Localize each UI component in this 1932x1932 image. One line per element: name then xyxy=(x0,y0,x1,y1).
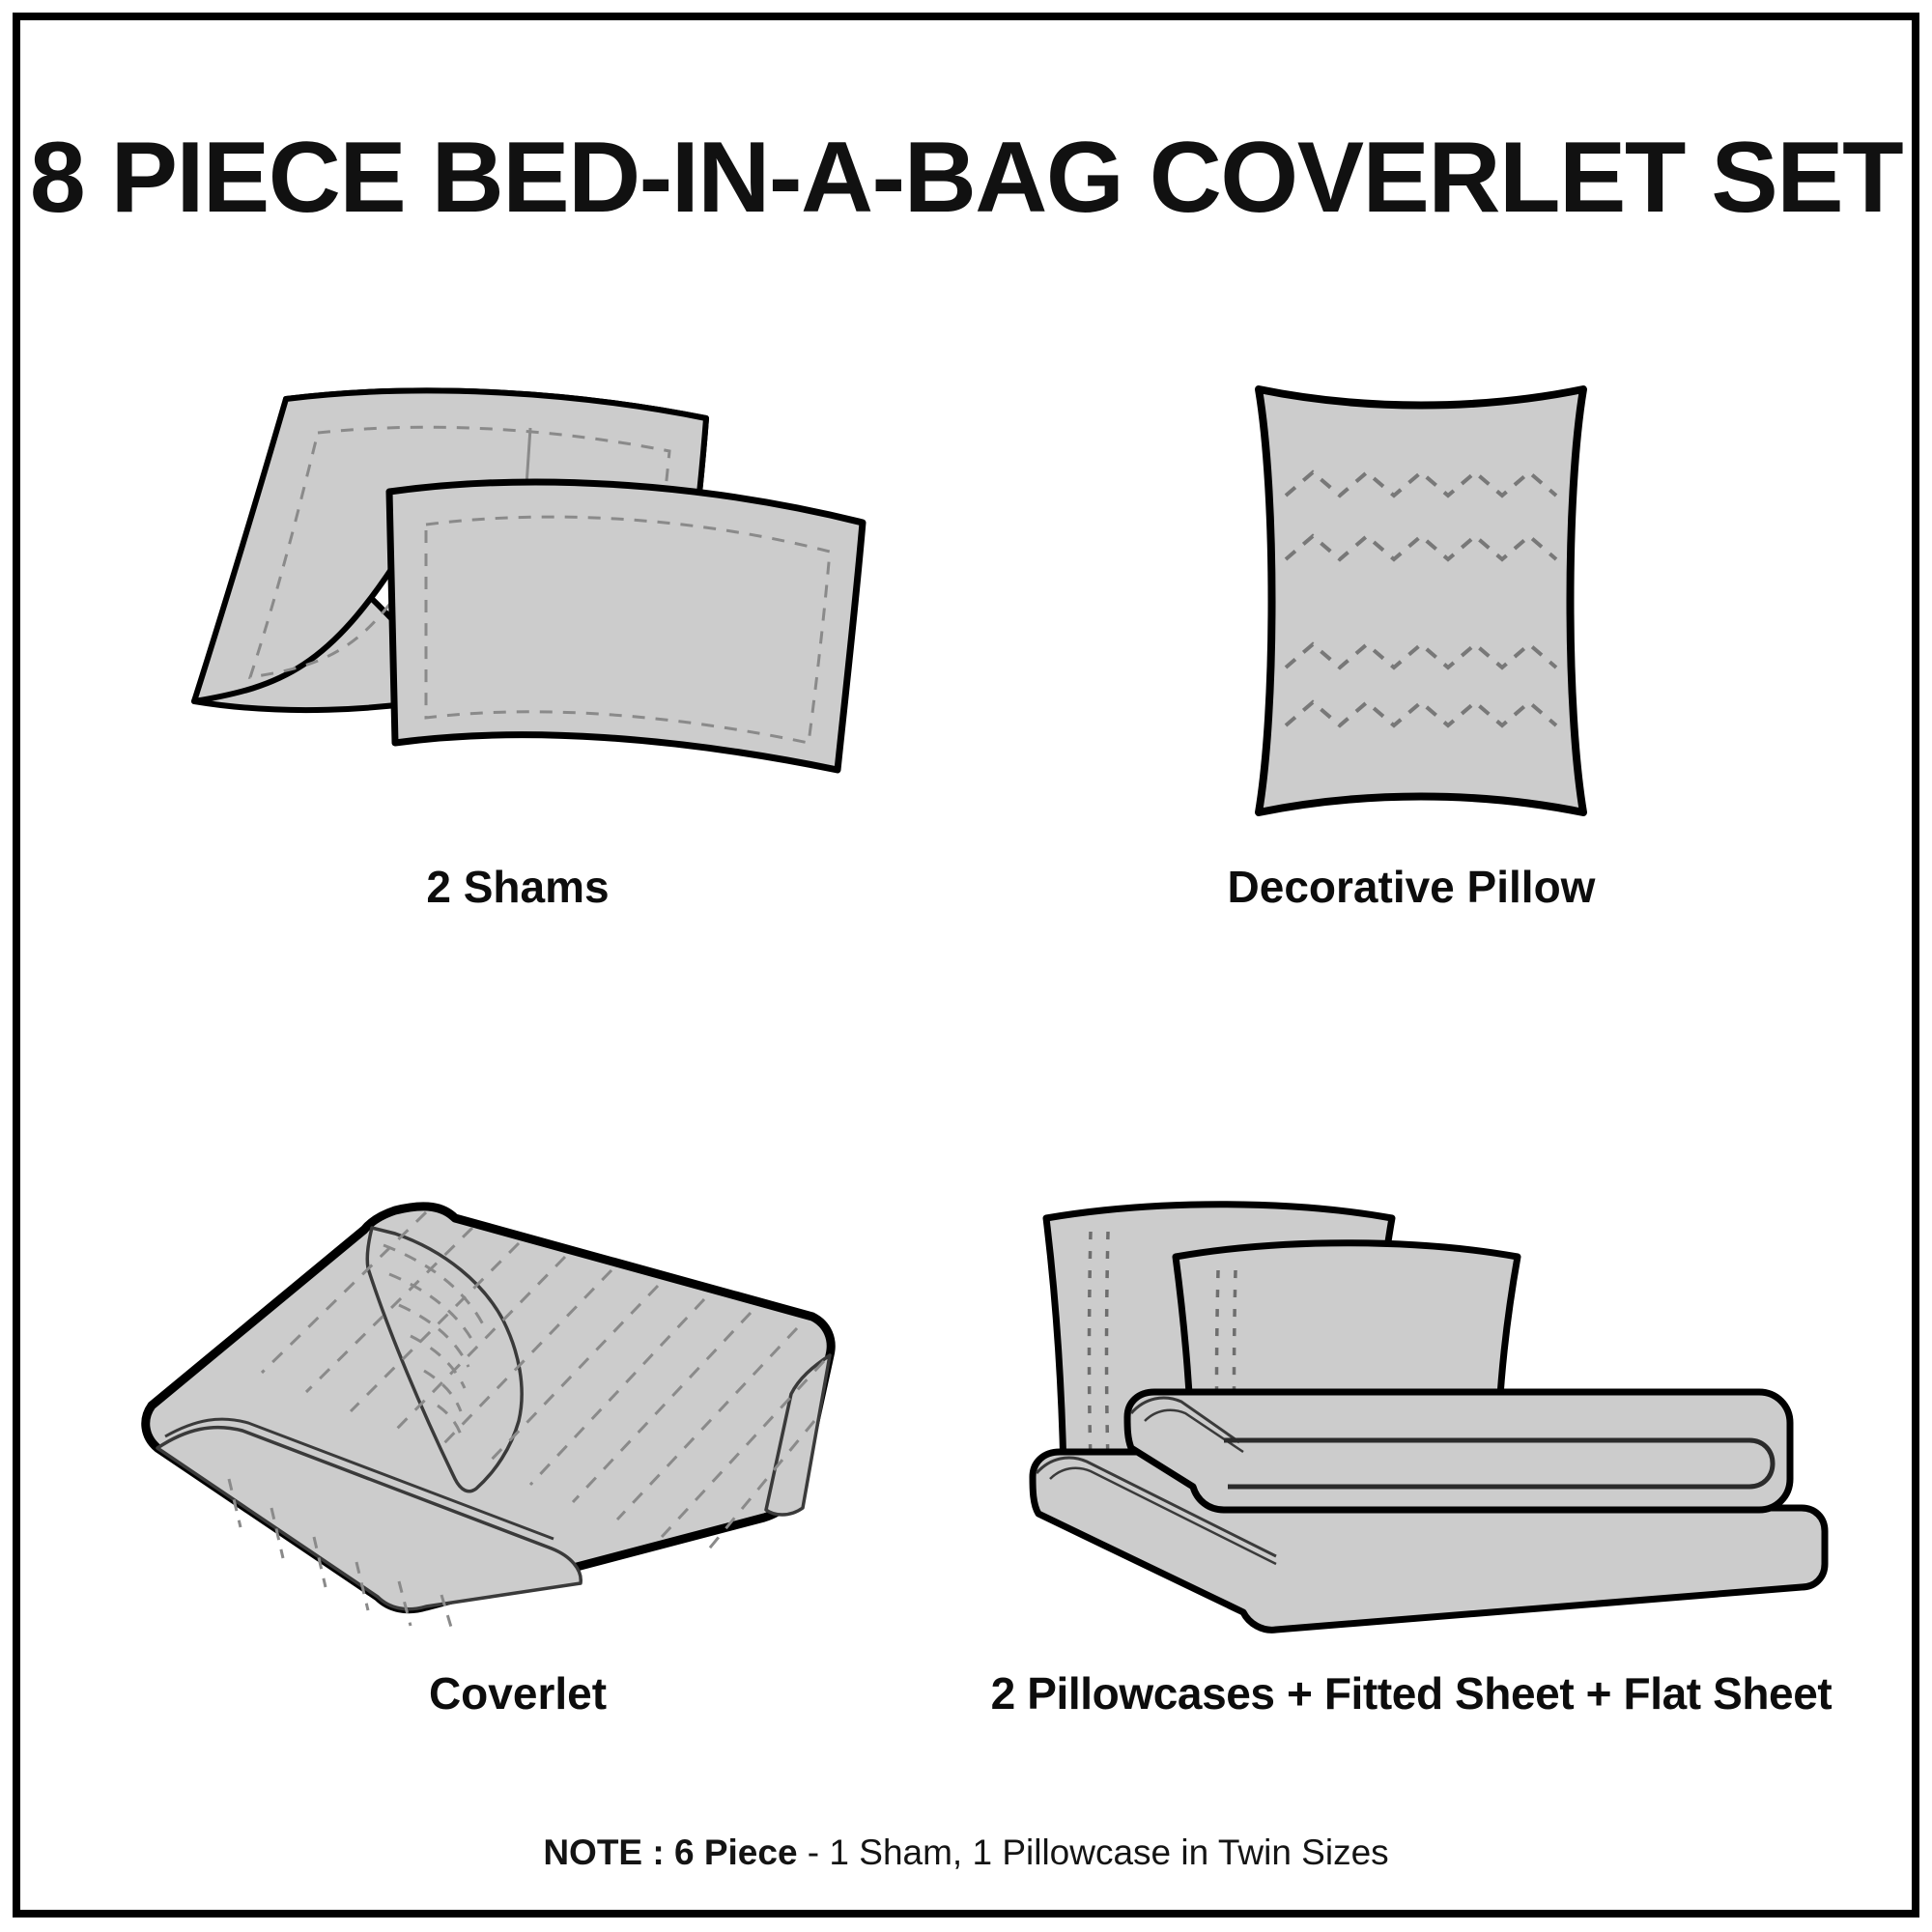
product-cell-coverlet: Coverlet xyxy=(136,1189,899,1730)
label-sheet-set: 2 Pillowcases + Fitted Sheet + Flat Shee… xyxy=(986,1667,1836,1719)
note-rest-text: - 1 Sham, 1 Pillowcase in Twin Sizes xyxy=(798,1833,1389,1872)
note-strong-text: NOTE : 6 Piece xyxy=(543,1833,797,1872)
note-line: NOTE : 6 Piece - 1 Sham, 1 Pillowcase in… xyxy=(20,1833,1912,1873)
page-title: 8 PIECE BED-IN-A-BAG COVERLET SET xyxy=(20,121,1912,236)
poster-frame: 8 PIECE BED-IN-A-BAG COVERLET SET 2 Sham… xyxy=(13,13,1919,1918)
label-shams: 2 Shams xyxy=(136,861,899,913)
decorative-pillow-illustration xyxy=(996,378,1827,832)
label-coverlet: Coverlet xyxy=(136,1667,899,1719)
product-cell-shams: 2 Shams xyxy=(136,378,899,919)
product-cell-decorative-pillow: Decorative Pillow xyxy=(996,378,1827,919)
coverlet-illustration xyxy=(136,1189,899,1643)
shams-illustration xyxy=(136,378,899,832)
product-cell-sheet-set: 2 Pillowcases + Fitted Sheet + Flat Shee… xyxy=(986,1189,1836,1730)
label-decorative-pillow: Decorative Pillow xyxy=(996,861,1827,913)
sheet-set-illustration xyxy=(986,1189,1836,1643)
